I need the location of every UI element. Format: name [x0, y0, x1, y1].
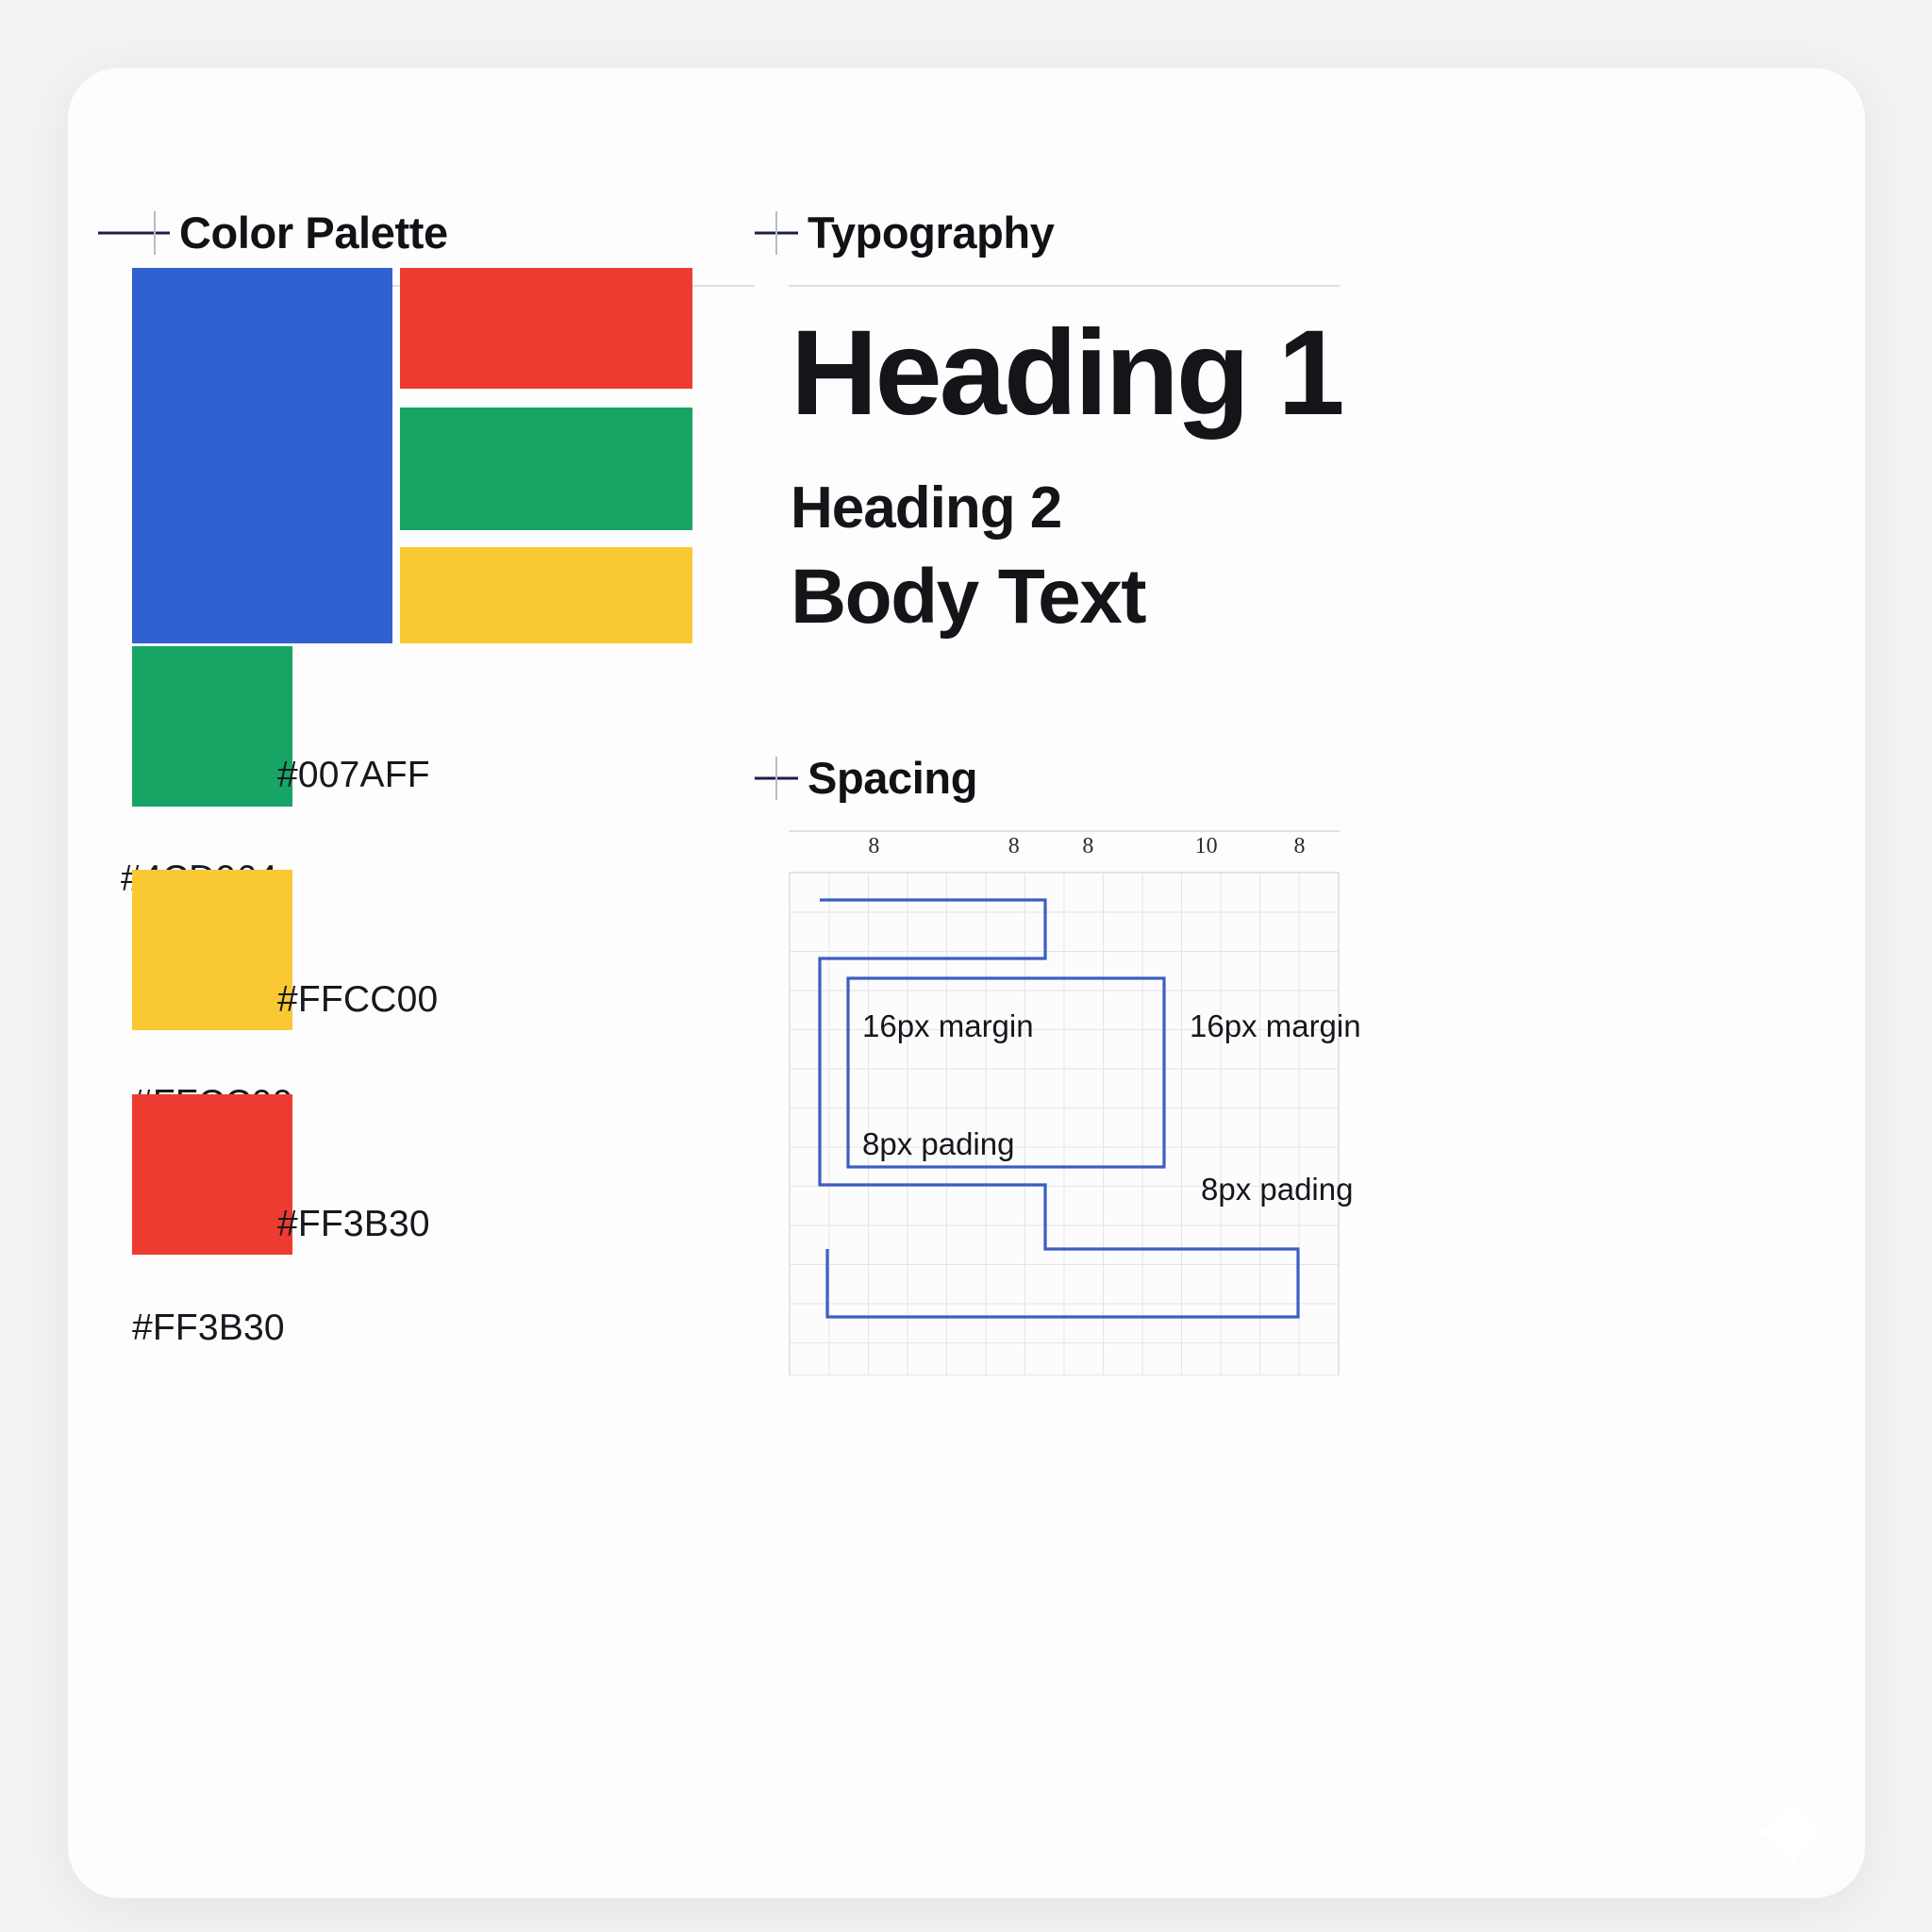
primary-blue-block[interactable]	[132, 268, 392, 643]
margin-label-left: 16px margin	[862, 1008, 1034, 1044]
accent-red-block[interactable]	[400, 268, 692, 389]
typography-heading2-sample: Heading 2	[791, 479, 1061, 538]
typography-heading1-sample: Heading 1	[791, 313, 1342, 434]
ruler-tick: 8	[1008, 834, 1020, 859]
section-header-typography: Typography	[755, 211, 1054, 255]
section-header-color-palette: Color Palette	[98, 211, 448, 255]
divider-typography	[789, 285, 1340, 287]
swatch-red-hex-right: #FF3B30	[277, 1204, 430, 1245]
spacing-ruler: 888108	[789, 828, 1338, 866]
section-title-spacing: Spacing	[808, 758, 977, 800]
section-title-color-palette: Color Palette	[179, 212, 448, 255]
typography-body-sample: Body Text	[791, 558, 1145, 636]
ruler-tick: 10	[1195, 834, 1218, 859]
plus-icon	[98, 211, 170, 255]
accent-yellow-block[interactable]	[400, 547, 692, 643]
ruler-tick: 8	[1293, 834, 1305, 859]
margin-label-right: 16px margin	[1190, 1008, 1361, 1044]
sparkle-icon	[1748, 1787, 1839, 1877]
swatch-yellow[interactable]	[132, 870, 292, 1030]
padding-label-left: 8px pading	[862, 1126, 1014, 1162]
accent-green-block[interactable]	[400, 408, 692, 530]
ruler-tick: 8	[1082, 834, 1093, 859]
plus-icon	[755, 211, 798, 255]
section-header-spacing: Spacing	[755, 757, 977, 800]
padding-label-right: 8px pading	[1201, 1172, 1353, 1207]
swatch-yellow-hex-right: #FFCC00	[277, 979, 438, 1021]
section-title-typography: Typography	[808, 212, 1054, 255]
swatch-green[interactable]	[132, 646, 292, 807]
plus-icon	[755, 757, 798, 800]
design-system-card: Color Palette Typography #007AFF #4CD964…	[68, 68, 1865, 1898]
ruler-tick: 8	[868, 834, 879, 859]
spacing-diagram: 888108 16px margin 16px margin 8px padin…	[789, 872, 1338, 1374]
spacing-path-drawing	[789, 872, 1338, 1374]
swatch-red-hex-below: #FF3B30	[132, 1307, 285, 1349]
swatch-green-hex-right: #007AFF	[277, 755, 430, 796]
swatch-red[interactable]	[132, 1094, 292, 1255]
